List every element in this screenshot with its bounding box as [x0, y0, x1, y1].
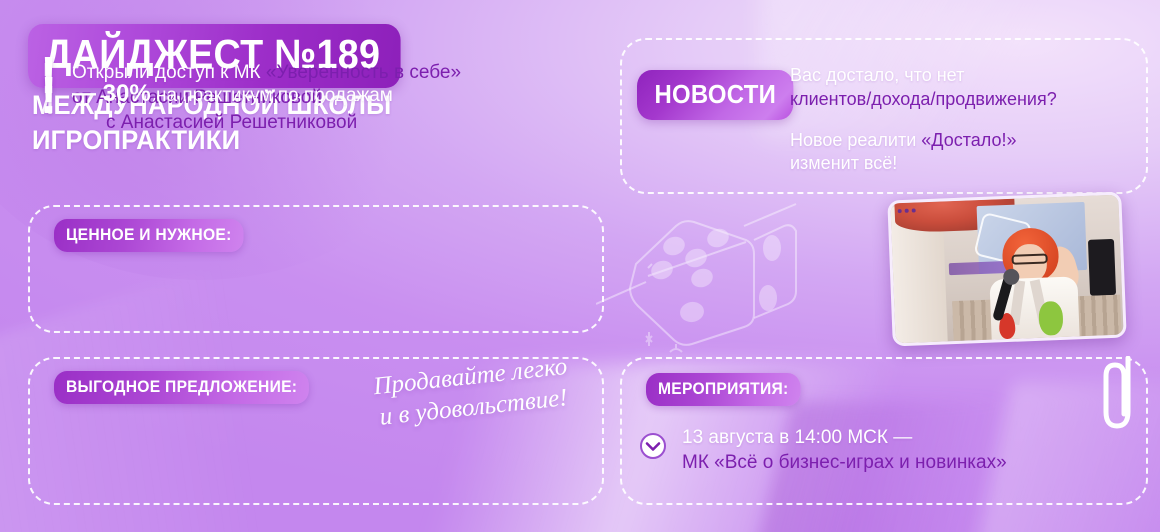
news-line-1: Вас достало, что нет	[790, 65, 964, 85]
news-line-2: клиентов/дохода/продвижения?	[790, 89, 1057, 109]
news-line-3-before: Новое реалити	[790, 130, 921, 150]
badge-valuable: ЦЕННОЕ И НУЖНОЕ:	[54, 219, 244, 252]
photo-person-glasses	[1011, 253, 1047, 264]
events-line-2: МК «Всё о бизнес-играх и новинках»	[682, 452, 1007, 473]
speaker-photo	[887, 192, 1126, 347]
photo-person	[979, 226, 1087, 342]
badge-news: НОВОСТИ	[637, 70, 794, 120]
photo-person-green-patch	[1038, 301, 1063, 336]
offer-text: — 30% на практикум по продажам с Анастас…	[72, 78, 512, 135]
dice-watermark-icon	[596, 186, 826, 366]
offer-discount: — 30%	[72, 80, 151, 107]
offer-text-line2: с Анастасией Решетниковой	[106, 112, 357, 133]
events-text: 13 августа в 14:00 МСК — МК «Всё о бизне…	[682, 425, 1082, 476]
news-text: Вас достало, что нет клиентов/дохода/про…	[790, 64, 1130, 176]
news-line-4: изменит всё!	[790, 153, 897, 173]
news-spacer	[790, 112, 1130, 129]
badge-events: МЕРОПРИЯТИЯ:	[646, 373, 800, 406]
card-valuable: ЦЕННОЕ И НУЖНОЕ:	[28, 205, 604, 333]
digest-banner: ДАЙДЖЕСТ №189 МЕЖДУНАРОДНОЙ ШКОЛЫ ИГРОПР…	[0, 0, 1160, 532]
events-line-1: 13 августа в 14:00 МСК —	[682, 427, 912, 448]
badge-offer: ВЫГОДНОЕ ПРЕДЛОЖЕНИЕ:	[54, 371, 309, 404]
news-line-3-accent: «Достало!»	[921, 130, 1016, 150]
offer-text-line1: на практикум по продажам	[156, 85, 393, 106]
paperclip-icon	[1098, 356, 1142, 436]
exclamation-icon-offer: !	[40, 76, 57, 117]
photo-loudspeaker	[1088, 239, 1116, 296]
clock-chevron-icon	[639, 432, 667, 460]
photo-window-dots	[898, 208, 916, 213]
